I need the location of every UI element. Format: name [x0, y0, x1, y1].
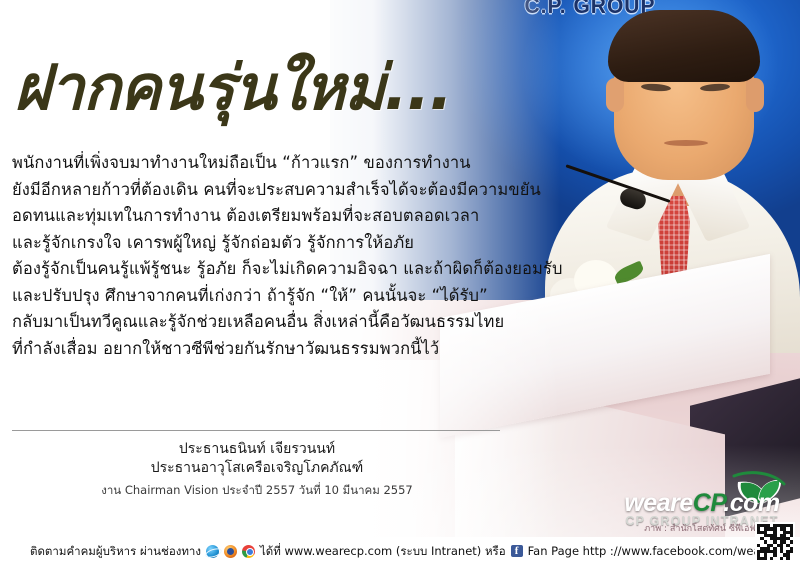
- logo-part-com: .com: [723, 489, 779, 517]
- divider: [12, 430, 500, 431]
- footer-lead-text: ติดตามคำคมผู้บริหาร ผ่านช่องทาง: [30, 544, 201, 558]
- photo-credit: ภาพ : สำนักโสตทัศน์ ซีพีเอฟ: [630, 521, 770, 535]
- footer-bar: ติดตามคำคมผู้บริหาร ผ่านช่องทาง ได้ที่ w…: [0, 537, 800, 565]
- body-line: พนักงานที่เพิ่งจบมาทำงานใหม่ถือเป็น “ก้า…: [12, 150, 572, 177]
- chrome-icon[interactable]: [242, 545, 255, 558]
- body-line: ที่กำลังเสื่อม อยากให้ชาวซีพีช่วยกันรักษ…: [12, 336, 572, 363]
- logo-part-are: are: [657, 489, 693, 517]
- body-line: และปรับปรุง ศึกษาจากคนที่เก่งกว่า ถ้ารู้…: [12, 283, 572, 310]
- logo-part-we: we: [624, 489, 656, 517]
- attribution-event: งาน Chairman Vision ประจำปี 2557 วันที่ …: [12, 481, 502, 499]
- poster-content: ฝากคนรุ่นใหม่... พนักงานที่เพิ่งจบมาทำงา…: [0, 0, 800, 565]
- body-text: พนักงานที่เพิ่งจบมาทำงานใหม่ถือเป็น “ก้า…: [12, 150, 572, 362]
- body-line: และรู้จักเกรงใจ เคารพผู้ใหญ่ รู้จักถ่อมต…: [12, 230, 572, 257]
- body-line: อดทนและทุ่มเทในการทำงาน ต้องเตรียมพร้อมท…: [12, 203, 572, 230]
- poster: C.P. GROUP: [0, 0, 800, 565]
- logo-wordmark: weareCP.com: [612, 490, 792, 516]
- facebook-icon[interactable]: f: [511, 545, 523, 557]
- body-line: ต้องรู้จักเป็นคนรู้แพ้รู้ชนะ รู้อภัย ก็จ…: [12, 256, 572, 283]
- firefox-icon[interactable]: [224, 545, 237, 558]
- headline: ฝากคนรุ่นใหม่...: [14, 52, 452, 124]
- internet-explorer-icon[interactable]: [206, 545, 219, 558]
- body-line: กลับมาเป็นทวีคูณและรู้จักช่วยเหลือคนอื่น…: [12, 309, 572, 336]
- footer-fanpage-text: Fan Page http ://www.facebook.com/wearec…: [528, 544, 786, 558]
- qr-code[interactable]: [755, 522, 795, 562]
- body-line: ยังมีอีกหลายก้าวที่ต้องเดิน คนที่จะประสบ…: [12, 177, 572, 204]
- footer-intranet-text: ได้ที่ www.wearecp.com (ระบบ Intranet) ห…: [260, 544, 506, 558]
- attribution: ประธานธนินท์ เจียรวนนท์ ประธานอาวุโสเครื…: [12, 440, 502, 499]
- attribution-role: ประธานอาวุโสเครือเจริญโภคภัณฑ์: [12, 459, 502, 478]
- attribution-name: ประธานธนินท์ เจียรวนนท์: [12, 440, 502, 459]
- logo-part-cp: CP: [693, 489, 724, 517]
